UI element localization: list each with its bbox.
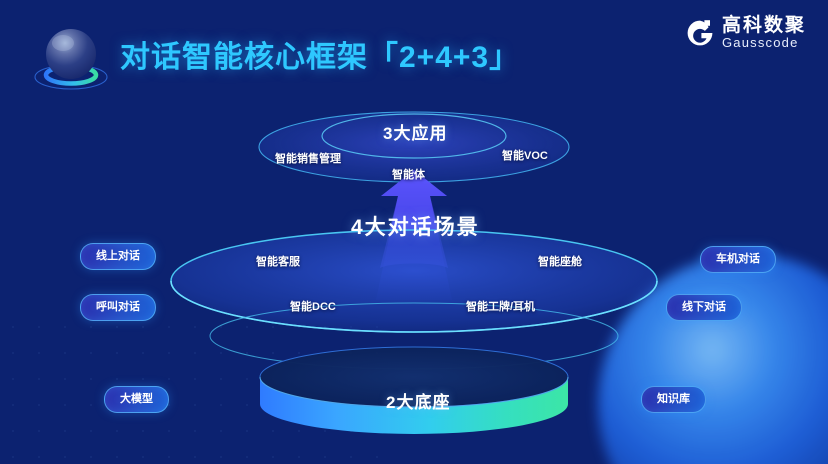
node-smart-cockpit: 智能座舱: [538, 253, 582, 269]
node-smart-badge-headset: 智能工牌/耳机: [466, 298, 535, 314]
pill-online-dialogue[interactable]: 线上对话: [80, 243, 156, 270]
pill-large-model[interactable]: 大模型: [104, 386, 169, 413]
slide-canvas: 对话智能核心框架「2+4+3」 高科数聚 Gausscode: [0, 0, 828, 464]
tier-scenarios-ring: [171, 230, 657, 332]
pill-knowledge-base[interactable]: 知识库: [641, 386, 706, 413]
node-smart-customer-service: 智能客服: [256, 253, 300, 269]
node-agent: 智能体: [392, 166, 425, 182]
node-smart-sales-management: 智能销售管理: [275, 150, 341, 166]
tier-title-applications: 3大应用: [383, 119, 447, 144]
pill-offline-dialogue[interactable]: 线下对话: [666, 294, 742, 321]
pill-in-car-dialogue[interactable]: 车机对话: [700, 246, 776, 273]
node-smart-voc: 智能VOC: [502, 147, 548, 163]
tier-title-scenarios: 4大对话场景: [351, 211, 480, 241]
tier-title-foundations: 2大底座: [386, 388, 450, 413]
pill-call-dialogue[interactable]: 呼叫对话: [80, 294, 156, 321]
node-smart-dcc: 智能DCC: [290, 298, 336, 314]
